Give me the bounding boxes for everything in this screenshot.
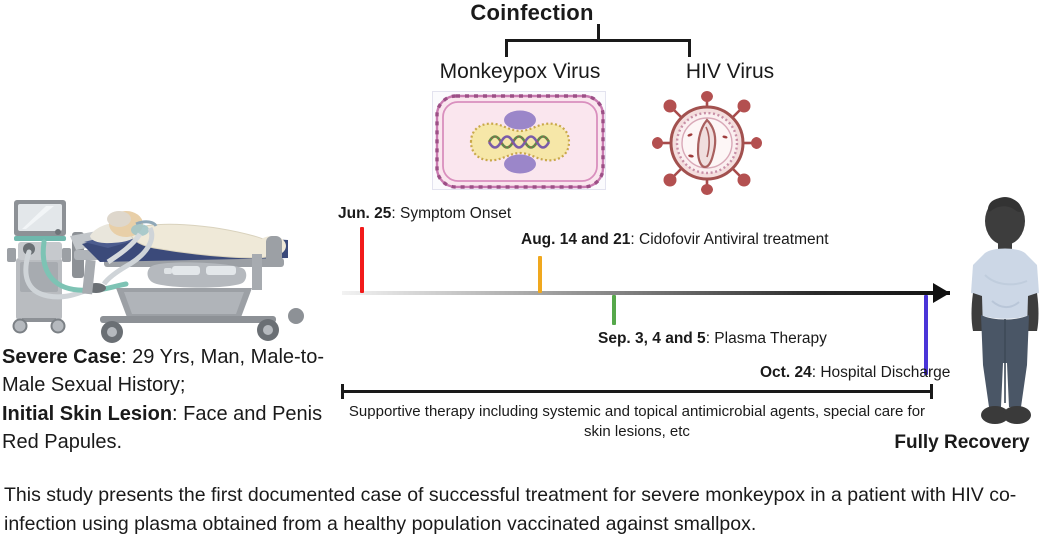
standing-recovered-person-icon [955, 197, 1055, 430]
bracket-stem [597, 24, 600, 40]
timeline-event-label-0: Jun. 25: Symptom Onset [338, 205, 511, 223]
timeline-tick-2 [612, 295, 616, 325]
timeline-event-label-3: Oct. 24: Hospital Discharge [760, 364, 950, 382]
case-caption-bold-1: Severe Case [2, 346, 121, 368]
support-bracket-bar [341, 390, 933, 393]
hiv-virus-label: HIV Virus [640, 60, 820, 84]
supportive-therapy-text: Supportive therapy including systemic an… [336, 402, 938, 441]
timeline-event-date-2: Sep. 3, 4 and 5 [598, 330, 706, 347]
timeline-event-date-1: Aug. 14 and 21 [521, 231, 630, 248]
bracket-bar [505, 39, 691, 42]
fully-recovery-label: Fully Recovery [860, 432, 1064, 454]
study-summary-text: This study presents the first documented… [4, 481, 1060, 540]
case-caption-line-2: Initial Skin Lesion: Face and Penis Red … [2, 400, 338, 457]
hiv-virion-icon [650, 89, 764, 197]
case-caption: Severe Case: 29 Yrs, Man, Male-to-Male S… [2, 343, 338, 457]
timeline-tick-0 [360, 227, 364, 293]
coinfection-title: Coinfection [0, 0, 1064, 25]
timeline-tick-1 [538, 256, 542, 293]
timeline-event-text-2: : Plasma Therapy [706, 330, 827, 347]
timeline-event-label-2: Sep. 3, 4 and 5: Plasma Therapy [598, 330, 827, 348]
monkeypox-virus-label: Monkeypox Virus [400, 60, 640, 84]
coinfection-bracket [505, 24, 691, 58]
bracket-leg-right [688, 39, 691, 57]
timeline-event-date-0: Jun. 25 [338, 205, 391, 222]
timeline-event-date-3: Oct. 24 [760, 364, 812, 381]
timeline-arrow-icon [933, 283, 950, 303]
timeline-event-label-1: Aug. 14 and 21: Cidofovir Antiviral trea… [521, 231, 829, 249]
hospital-bed-ventilator-icon [4, 196, 334, 351]
support-bracket-cap-right [930, 384, 933, 399]
support-bracket-cap-left [341, 384, 344, 399]
timeline-axis [342, 291, 950, 295]
timeline-event-text-0: : Symptom Onset [391, 205, 511, 222]
timeline-event-text-1: : Cidofovir Antiviral treatment [630, 231, 828, 248]
bracket-leg-left [505, 39, 508, 57]
monkeypox-virion-icon [432, 91, 606, 190]
case-caption-bold-2: Initial Skin Lesion [2, 403, 172, 425]
timeline-event-text-3: : Hospital Discharge [812, 364, 951, 381]
case-caption-line-1: Severe Case: 29 Yrs, Man, Male-to-Male S… [2, 343, 338, 400]
supportive-therapy-bracket [341, 384, 933, 400]
timeline-tick-3 [924, 295, 928, 375]
